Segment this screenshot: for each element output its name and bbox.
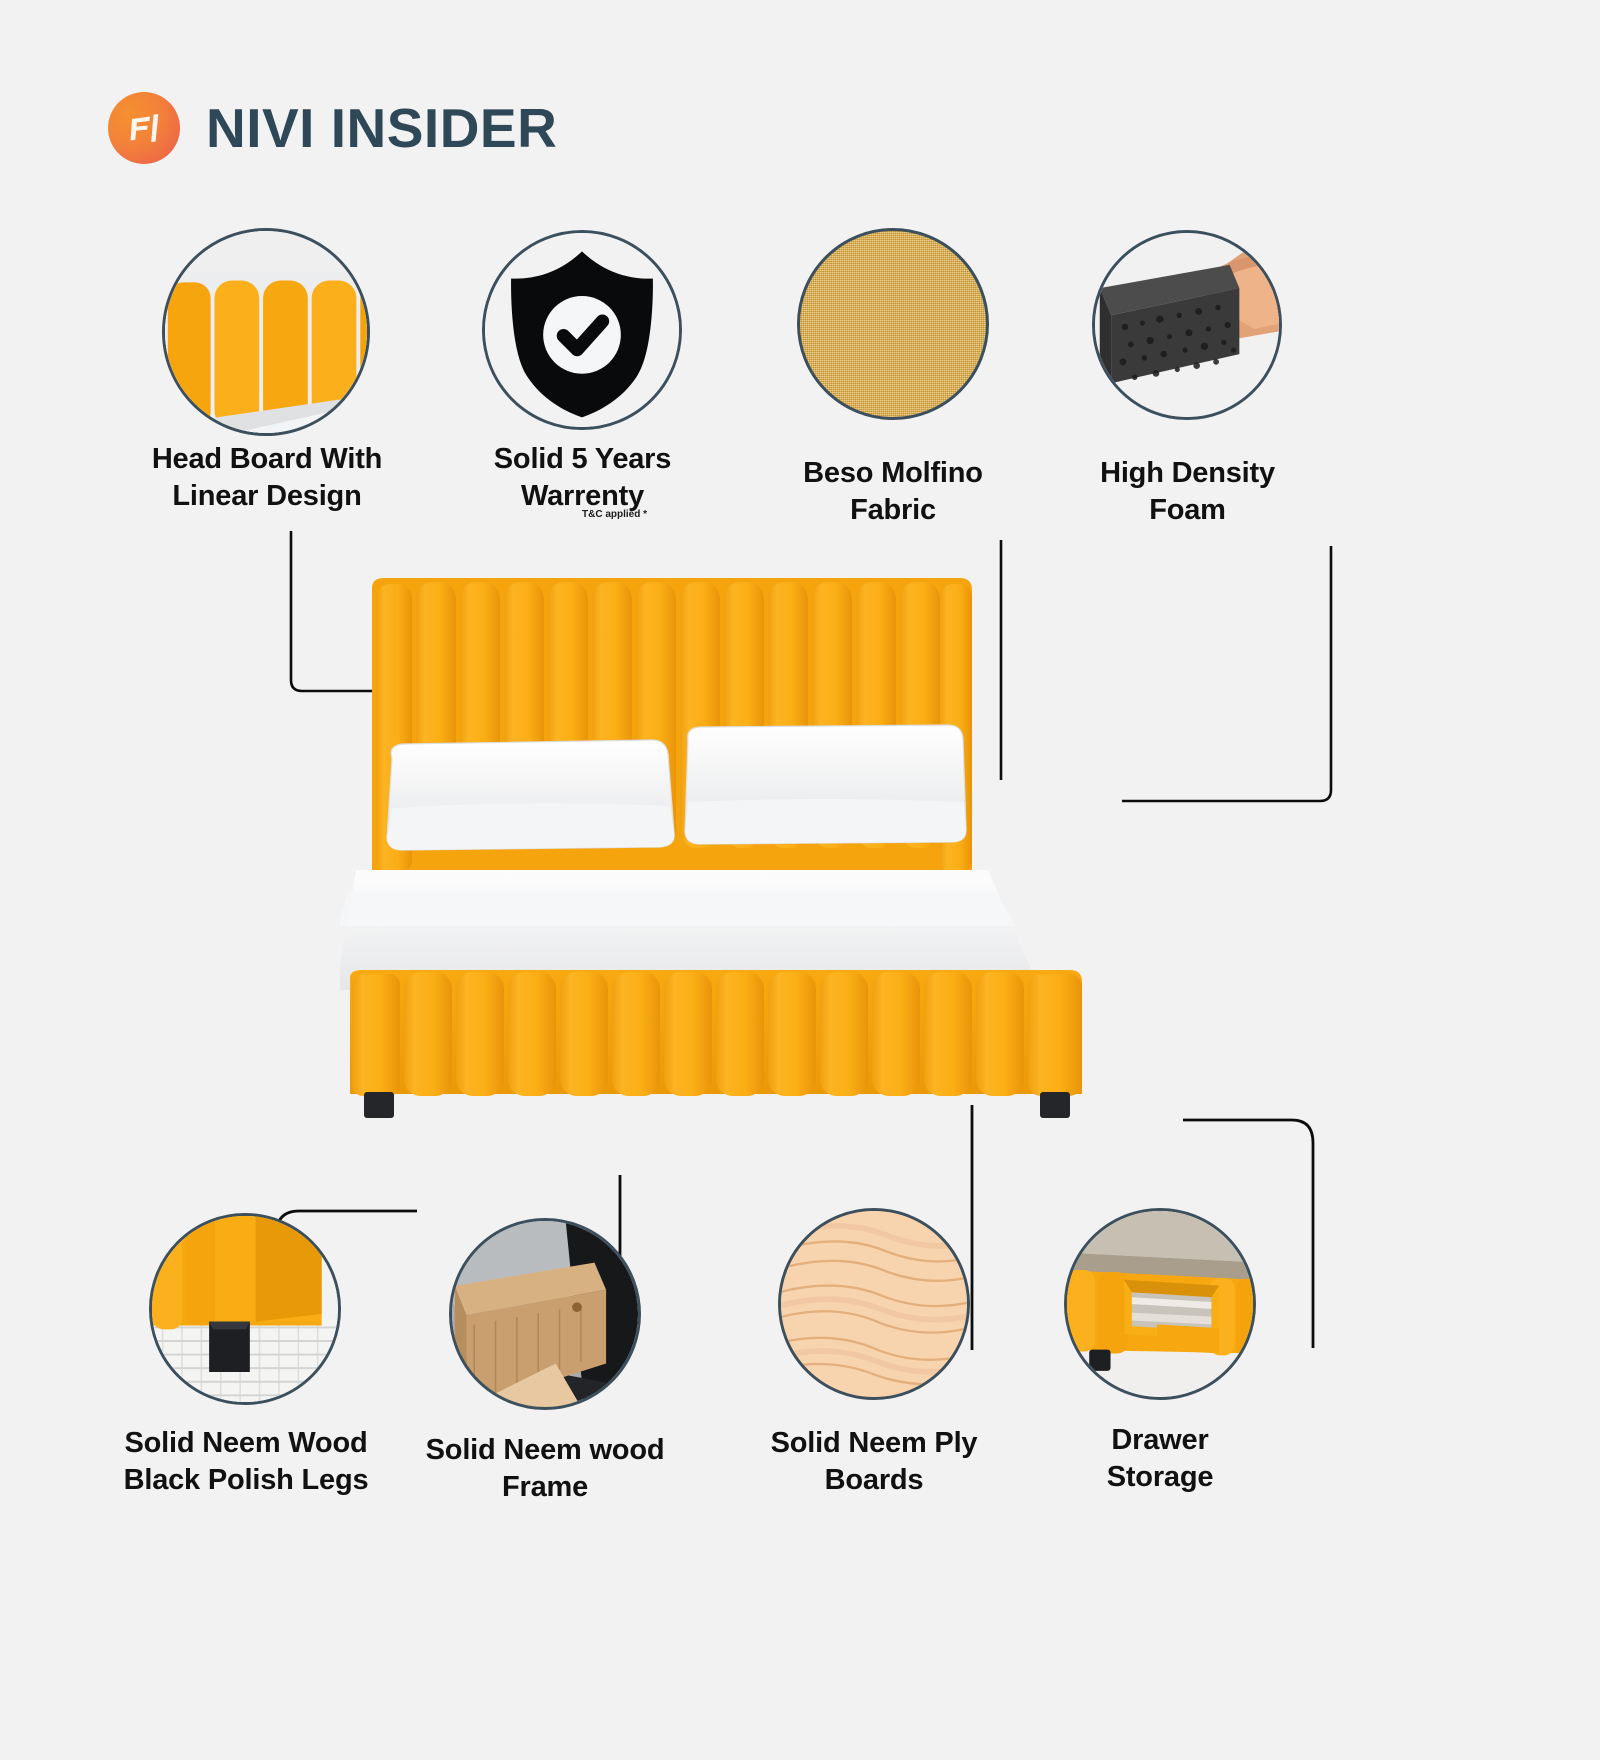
feature-label-drawer-storage: Drawer Storage (1045, 1422, 1275, 1496)
feature-thumb-drawer-storage[interactable] (1064, 1208, 1256, 1400)
feature-thumb-solid-neem-wood-black-polish-legs[interactable] (149, 1213, 341, 1405)
bed-product-illustration (340, 570, 1200, 1230)
bed-leg-right (1040, 1092, 1070, 1118)
feature-thumb-head-board-linear-design[interactable] (162, 228, 370, 436)
bed-leg-left (364, 1092, 394, 1118)
headboard-photo-icon (162, 228, 370, 436)
infographic-canvas: NIVI INSIDER (0, 0, 1600, 1760)
feature-thumb-beso-molfino-fabric[interactable] (797, 228, 989, 420)
bed-leg-photo-icon (149, 1213, 341, 1405)
feature-thumb-solid-5-years-warrenty[interactable] (482, 230, 682, 430)
feature-label-high-density-foam: High Density Foam (1065, 455, 1310, 529)
feature-label-solid-neem-wood-black-polish-legs: Solid Neem Wood Black Polish Legs (98, 1425, 394, 1499)
feature-label-solid-neem-wood-frame: Solid Neem wood Frame (410, 1432, 680, 1506)
feature-label-solid-5-years-warrenty: Solid 5 Years Warrenty (455, 441, 710, 515)
feature-thumb-high-density-foam[interactable] (1092, 230, 1282, 420)
wood-frame-photo-icon (449, 1218, 641, 1410)
feature-label-solid-neem-ply-boards: Solid Neem Ply Boards (748, 1425, 1000, 1499)
feature-note-terms-and-conditions: T&C applied * (582, 509, 712, 520)
foam-block-hand-icon (1092, 230, 1282, 420)
feature-thumb-solid-neem-ply-boards[interactable] (778, 1208, 970, 1400)
feature-label-beso-molfino-fabric: Beso Molfino Fabric (768, 455, 1018, 529)
feature-thumb-solid-neem-wood-frame[interactable] (449, 1218, 641, 1410)
ply-board-grain-icon (778, 1208, 970, 1400)
shield-check-icon (482, 230, 682, 430)
feature-label-head-board-linear-design: Head Board With Linear Design (122, 441, 412, 515)
drawer-storage-photo-icon (1064, 1208, 1256, 1400)
